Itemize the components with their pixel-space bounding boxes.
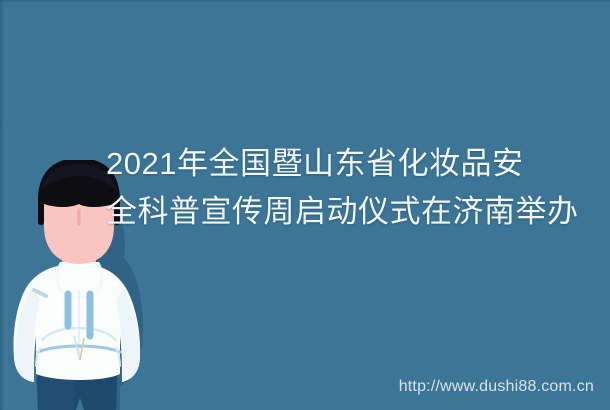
- page-title: 2021年全国暨山东省化妆品安 全科普宣传周启动仪式在济南举办: [106, 140, 602, 236]
- headline-line-1: 2021年全国暨山东省化妆品安: [106, 140, 602, 188]
- headline-line-2: 全科普宣传周启动仪式在济南举办: [106, 188, 602, 236]
- top-edge-vignette: [0, 0, 610, 3]
- news-thumbnail-banner: 2021年全国暨山东省化妆品安 全科普宣传周启动仪式在济南举办 http://w…: [0, 0, 610, 410]
- site-url-watermark: http://www.dushi88.com.cn: [399, 378, 594, 396]
